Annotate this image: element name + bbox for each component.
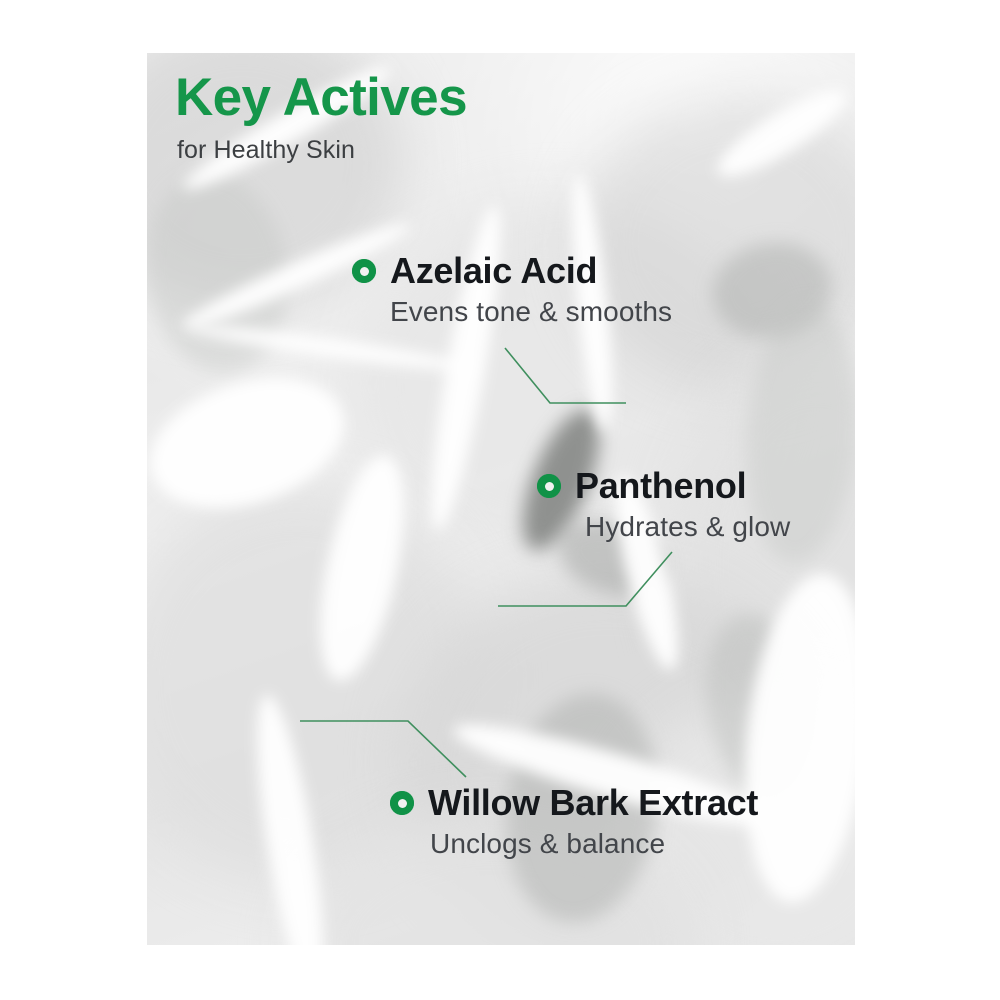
active-description: Evens tone & smooths [390, 296, 672, 328]
active-name-row: Azelaic Acid [352, 250, 672, 292]
heading-block: Key Actives for Healthy Skin [175, 70, 467, 165]
key-actives-poster: Key Actives for Healthy Skin Azelaic Aci… [0, 0, 1000, 1000]
active-description: Hydrates & glow [585, 511, 790, 543]
active-name-row: Willow Bark Extract [390, 782, 758, 824]
page-subtitle: for Healthy Skin [177, 136, 467, 165]
filled-donut-icon [352, 259, 376, 283]
page-title: Key Actives [175, 70, 467, 126]
filled-donut-icon [537, 474, 561, 498]
active-name-row: Panthenol [537, 465, 790, 507]
active-description: Unclogs & balance [430, 828, 758, 860]
active-item-willow-bark-extract: Willow Bark Extract Unclogs & balance [390, 782, 758, 860]
active-name: Willow Bark Extract [428, 782, 758, 824]
filled-donut-icon [390, 791, 414, 815]
active-item-azelaic-acid: Azelaic Acid Evens tone & smooths [352, 250, 672, 328]
active-name: Panthenol [575, 465, 746, 507]
active-name: Azelaic Acid [390, 250, 597, 292]
active-item-panthenol: Panthenol Hydrates & glow [537, 465, 790, 543]
